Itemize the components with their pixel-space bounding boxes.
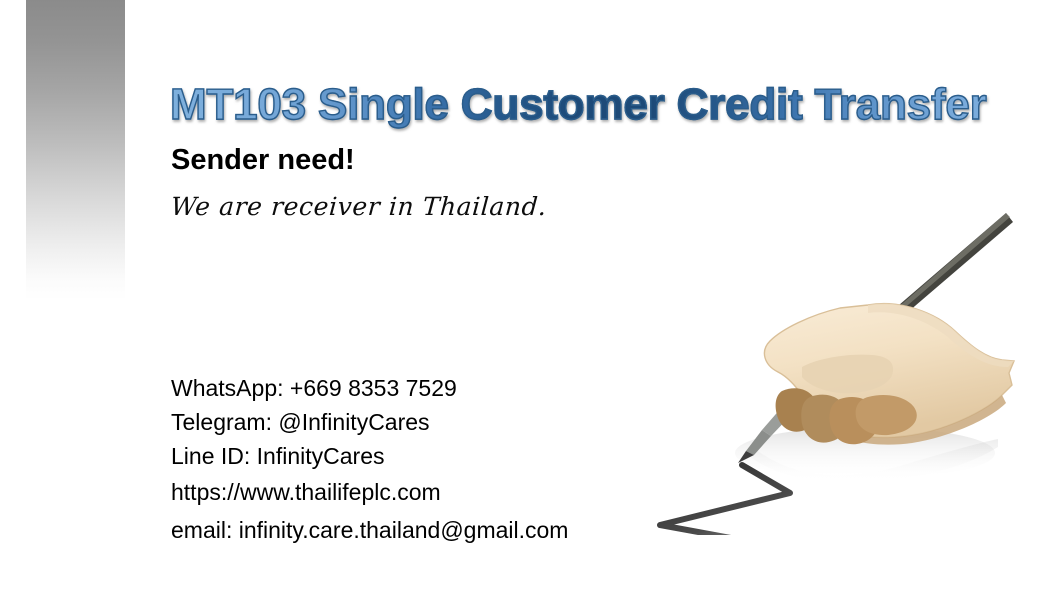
contact-line-telegram: Telegram: @InfinityCares xyxy=(171,405,691,439)
slide-canvas: MT103 Single Customer Credit Transfer Se… xyxy=(0,0,1063,600)
headline-sender-need: Sender need! xyxy=(171,144,355,177)
hand-writing-with-pen-illustration xyxy=(650,195,1040,535)
subtitle-script-line: We are receiver in Thailand. xyxy=(170,192,548,221)
contact-line-line-id: Line ID: InfinityCares xyxy=(171,439,691,473)
contact-details-block: WhatsApp: +669 8353 7529 Telegram: @Infi… xyxy=(171,371,691,549)
contact-line-email[interactable]: email: infinity.care.thailand@gmail.com xyxy=(171,511,691,549)
contact-line-whatsapp: WhatsApp: +669 8353 7529 xyxy=(171,371,691,405)
page-title: MT103 Single Customer Credit Transfer xyxy=(170,79,1030,131)
left-gradient-strip xyxy=(26,0,125,300)
contact-line-website[interactable]: https://www.thailifeplc.com xyxy=(171,473,691,511)
